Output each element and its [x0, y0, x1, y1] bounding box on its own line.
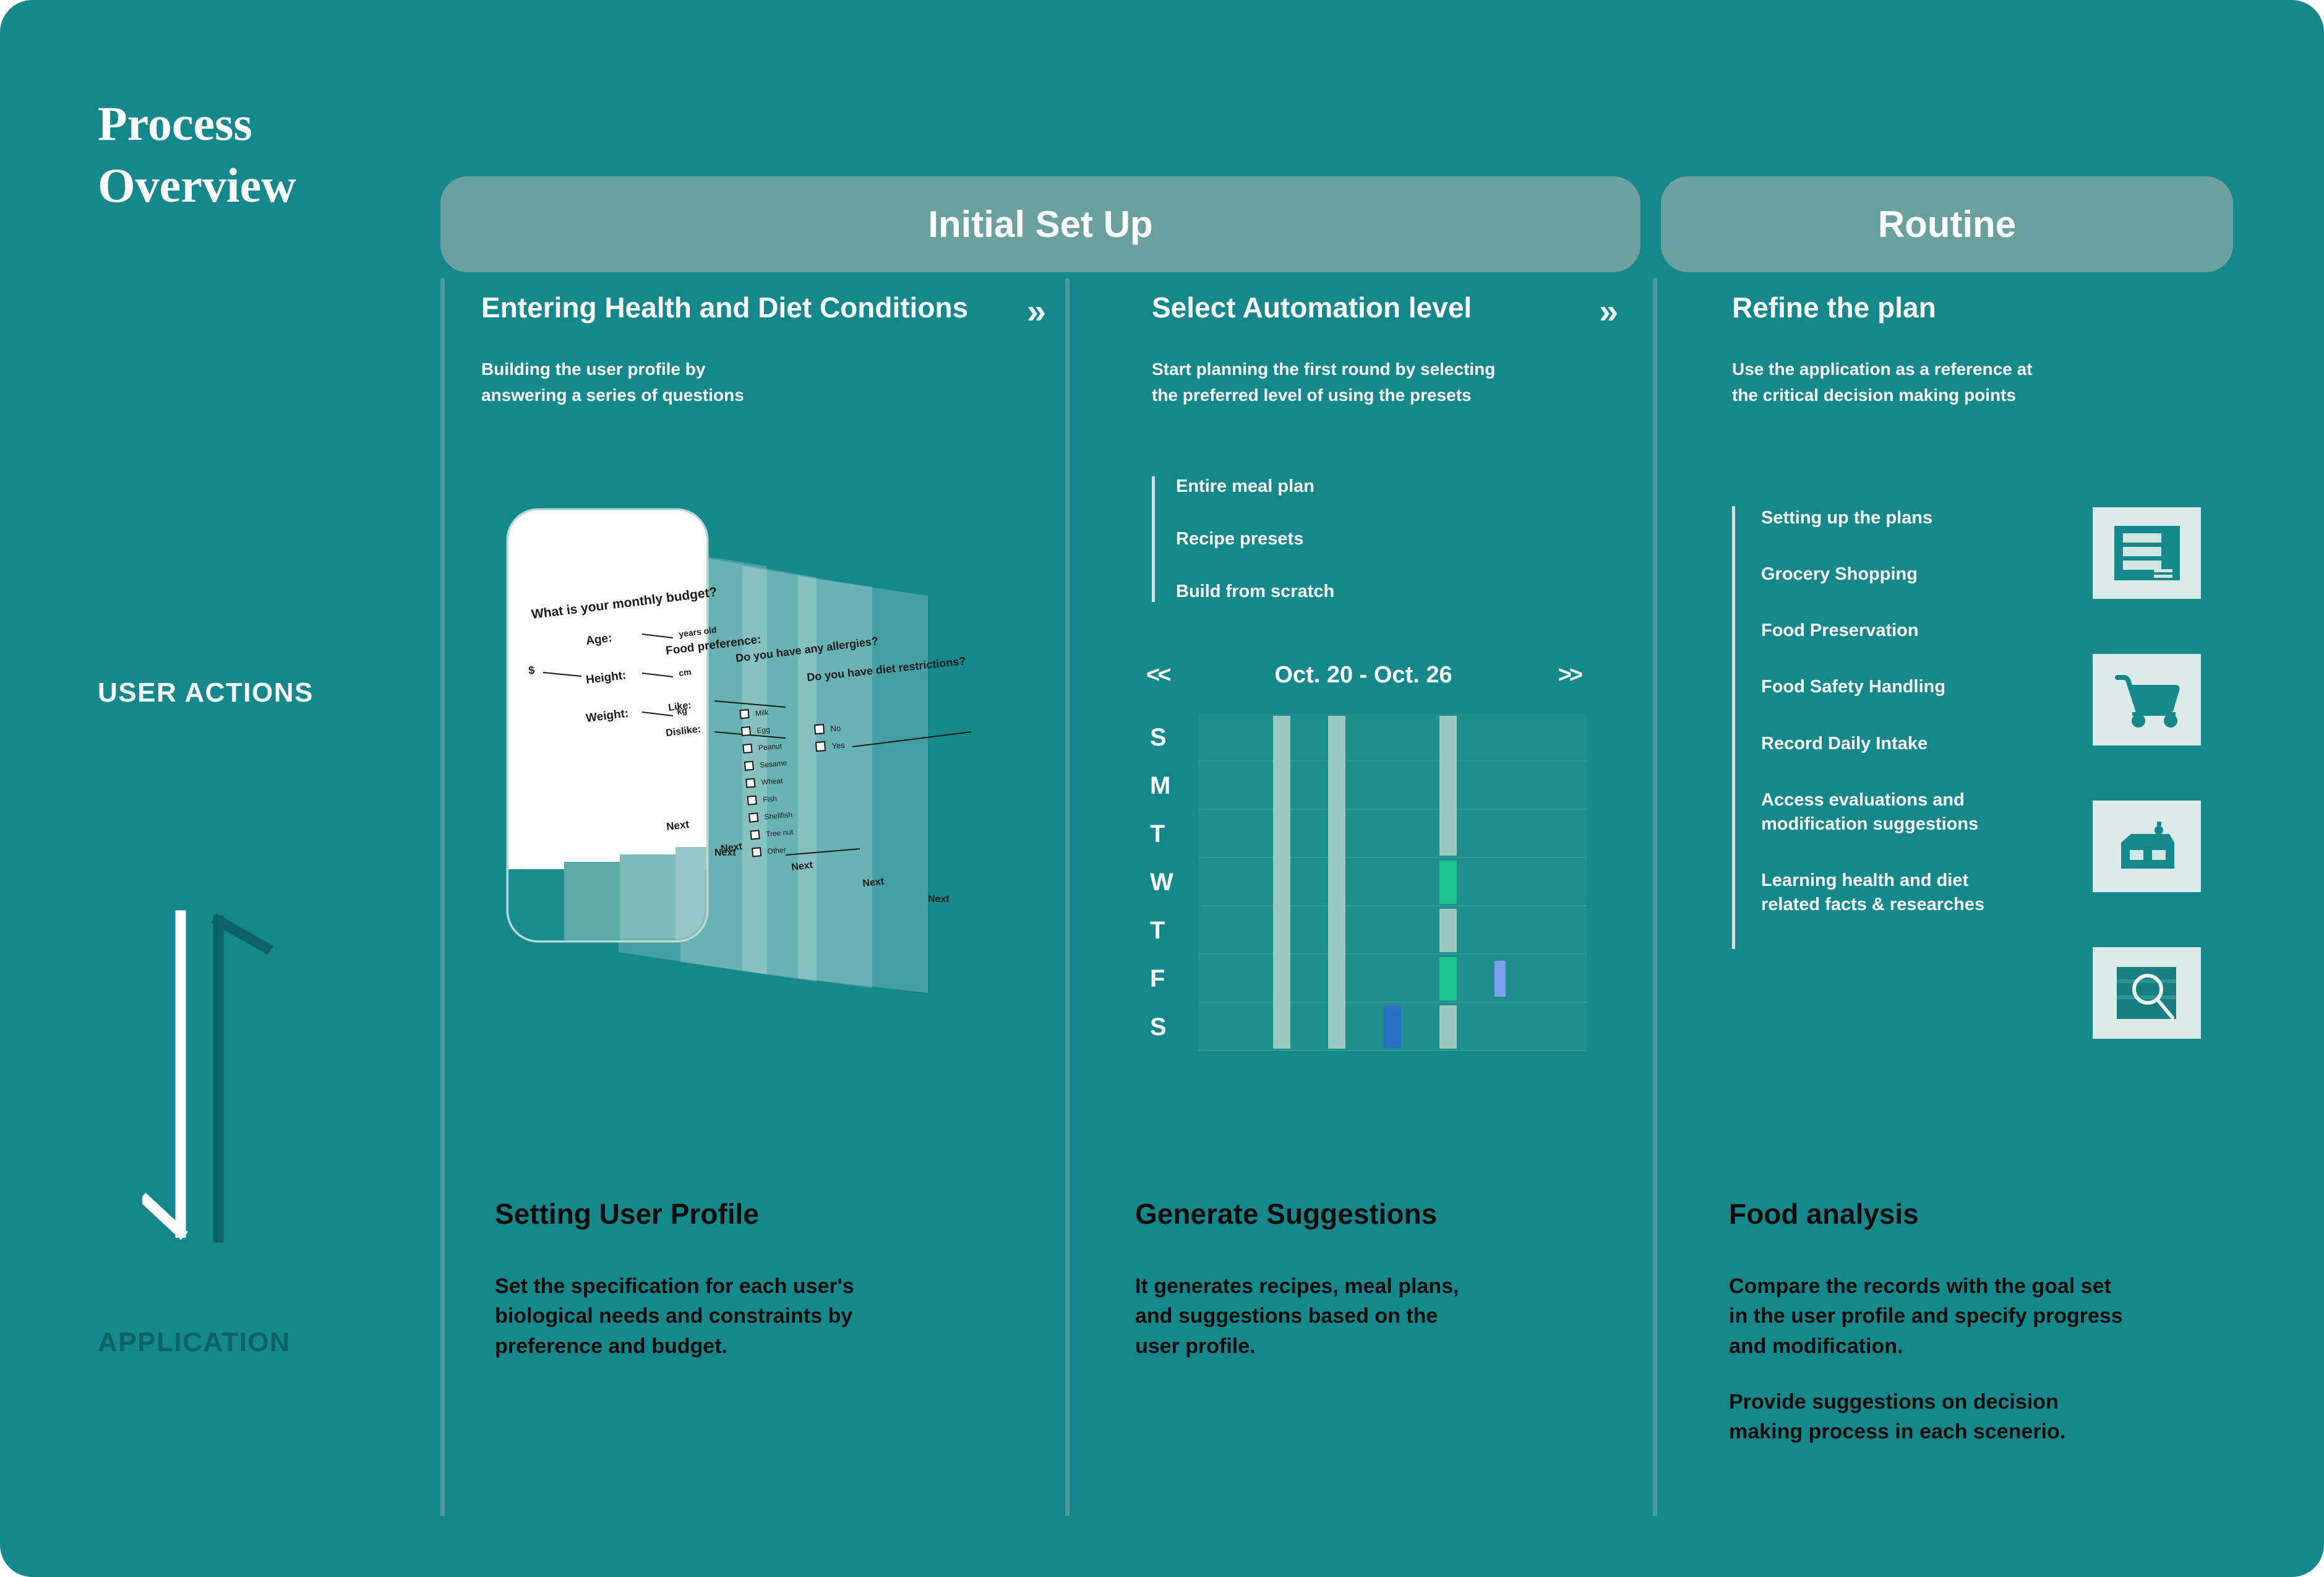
svg-text:Next: Next [928, 894, 950, 905]
calendar-day-labels: SMTWTFS [1141, 713, 1198, 1051]
bottom-paragraph: Compare the records with the goal set in… [1729, 1271, 2286, 1361]
column-subtitle: Use the application as a reference at th… [1732, 356, 2289, 408]
bottom-title: Food analysis [1729, 1197, 2286, 1231]
bottom-paragraph: It generates recipes, meal plans, and su… [1135, 1271, 1605, 1361]
routine-activity-list: Setting up the plansGrocery ShoppingFood… [1732, 506, 2107, 949]
column-divider [1065, 278, 1070, 1516]
automation-level-item[interactable]: Build from scratch [1176, 582, 1334, 602]
calendar-row[interactable] [1198, 810, 1587, 858]
column-refine-plan: Refine the plan Use the application as a… [1732, 291, 2289, 408]
bottom-title: Generate Suggestions [1135, 1197, 1605, 1231]
calendar-event-bar[interactable] [1439, 909, 1457, 952]
column-divider [1653, 278, 1657, 1516]
column-heading: Refine the plan [1732, 291, 2289, 324]
svg-text:Other: Other [767, 846, 786, 856]
column-heading-text: Entering Health and Diet Conditions [481, 291, 968, 324]
column-heading-text: Select Automation level [1152, 291, 1472, 324]
automation-level-item[interactable]: Entire meal plan [1176, 476, 1334, 497]
calendar-event-bar[interactable] [1439, 1005, 1457, 1049]
page-title-line-1: Process [98, 93, 444, 155]
calendar-event-bar[interactable] [1439, 957, 1457, 1000]
svg-text:Next: Next [714, 848, 736, 858]
calendar-day-label: S [1141, 1003, 1198, 1051]
svg-text:cm: cm [678, 667, 692, 678]
robot-icon [2093, 801, 2201, 892]
calendar-day-label: T [1141, 810, 1198, 858]
calendar-row[interactable] [1198, 858, 1587, 906]
calendar-header: << Oct. 20 - Oct. 26 >> [1141, 662, 1587, 689]
routine-activity-item[interactable]: Food Preservation [1761, 619, 2107, 643]
calendar-prev-button[interactable]: << [1146, 662, 1168, 689]
phase-label: Initial Set Up [928, 203, 1152, 246]
bottom-block-food-analysis: Food analysis Compare the records with t… [1729, 1197, 2286, 1472]
automation-level-item[interactable]: Recipe presets [1176, 529, 1334, 549]
bidirectional-arrows-icon [142, 909, 291, 1244]
calendar-range-label: Oct. 20 - Oct. 26 [1274, 662, 1452, 689]
shopping-cart-icon [2093, 654, 2201, 746]
svg-text:Yes: Yes [831, 741, 846, 750]
svg-text:Milk: Milk [755, 708, 769, 718]
calendar-day-label: M [1141, 762, 1198, 810]
chevron-right-icon-1: » [1027, 291, 1042, 331]
page-title-line-2: Overview [98, 155, 444, 217]
calendar-event-bar[interactable] [1439, 861, 1457, 904]
calendar-event-bar[interactable] [1328, 716, 1345, 1049]
automation-level-list: Entire meal planRecipe presetsBuild from… [1152, 476, 1334, 602]
calendar-day-label: F [1141, 955, 1198, 1003]
routine-activity-item[interactable]: Record Daily Intake [1761, 732, 2107, 756]
bottom-block-setting-user-profile: Setting User Profile Set the specificati… [495, 1197, 1039, 1387]
column-select-automation: Select Automation level Start planning t… [1152, 291, 1647, 408]
phase-label: Routine [1878, 203, 2016, 246]
routine-activity-item[interactable]: Grocery Shopping [1761, 562, 2107, 587]
phase-pill-routine[interactable]: Routine [1661, 176, 2233, 272]
calendar-row[interactable] [1198, 713, 1587, 762]
calendar-day-label: S [1141, 713, 1198, 762]
magnifier-document-icon [2093, 947, 2201, 1039]
application-label: APPLICATION [98, 1327, 419, 1358]
calendar-next-button[interactable]: >> [1558, 662, 1580, 689]
calendar-body: SMTWTFS [1141, 713, 1587, 1051]
calendar-row[interactable] [1198, 955, 1587, 1003]
calendar-event-bar[interactable] [1494, 961, 1506, 997]
routine-activity-item[interactable]: Access evaluations and modification sugg… [1761, 788, 2107, 836]
week-calendar: << Oct. 20 - Oct. 26 >> SMTWTFS [1141, 662, 1587, 1051]
process-overview-canvas: Process Overview USER ACTIONS APPLICATIO… [0, 0, 2324, 1577]
calendar-event-bar[interactable] [1273, 716, 1290, 1049]
calendar-row[interactable] [1198, 906, 1587, 955]
routine-activity-item[interactable]: Learning health and diet related facts &… [1761, 869, 2107, 917]
calendar-event-bar[interactable] [1439, 716, 1457, 856]
onboarding-form-artwork: What is your monthly budget? $ Age: Heig… [495, 504, 1002, 999]
column-subtitle: Start planning the first round by select… [1152, 356, 1647, 408]
bottom-block-generate-suggestions: Generate Suggestions It generates recipe… [1135, 1197, 1605, 1387]
calendar-row[interactable] [1198, 762, 1587, 810]
user-actions-label: USER ACTIONS [98, 677, 419, 708]
phase-pill-initial-set-up[interactable]: Initial Set Up [440, 176, 1640, 272]
bottom-paragraph: Set the specification for each user's bi… [495, 1271, 1039, 1361]
calendar-day-label: W [1141, 858, 1198, 906]
column-heading: Entering Health and Diet Conditions [481, 291, 1063, 324]
column-entering-conditions: Entering Health and Diet Conditions Buil… [481, 291, 1063, 408]
bottom-paragraph: Provide suggestions on decision making p… [1729, 1387, 2286, 1447]
column-divider [440, 278, 445, 1516]
document-list-icon [2093, 507, 2201, 599]
page-title: Process Overview [98, 93, 444, 217]
calendar-day-label: T [1141, 906, 1198, 955]
bottom-title: Setting User Profile [495, 1197, 1039, 1231]
svg-text:Egg: Egg [757, 725, 770, 735]
calendar-event-bar[interactable] [1384, 1005, 1401, 1049]
svg-text:No: No [830, 723, 841, 733]
column-heading: Select Automation level [1152, 291, 1647, 324]
routine-activity-item[interactable]: Food Safety Handling [1761, 675, 2107, 699]
svg-text:Fish: Fish [763, 794, 778, 804]
routine-activity-item[interactable]: Setting up the plans [1761, 506, 2107, 530]
chevron-right-icon-2: » [1599, 291, 1614, 331]
column-heading-text: Refine the plan [1732, 291, 1936, 324]
routine-icon-column [2093, 507, 2201, 1094]
calendar-grid[interactable] [1198, 713, 1587, 1051]
column-subtitle: Building the user profile by answering a… [481, 356, 1063, 408]
